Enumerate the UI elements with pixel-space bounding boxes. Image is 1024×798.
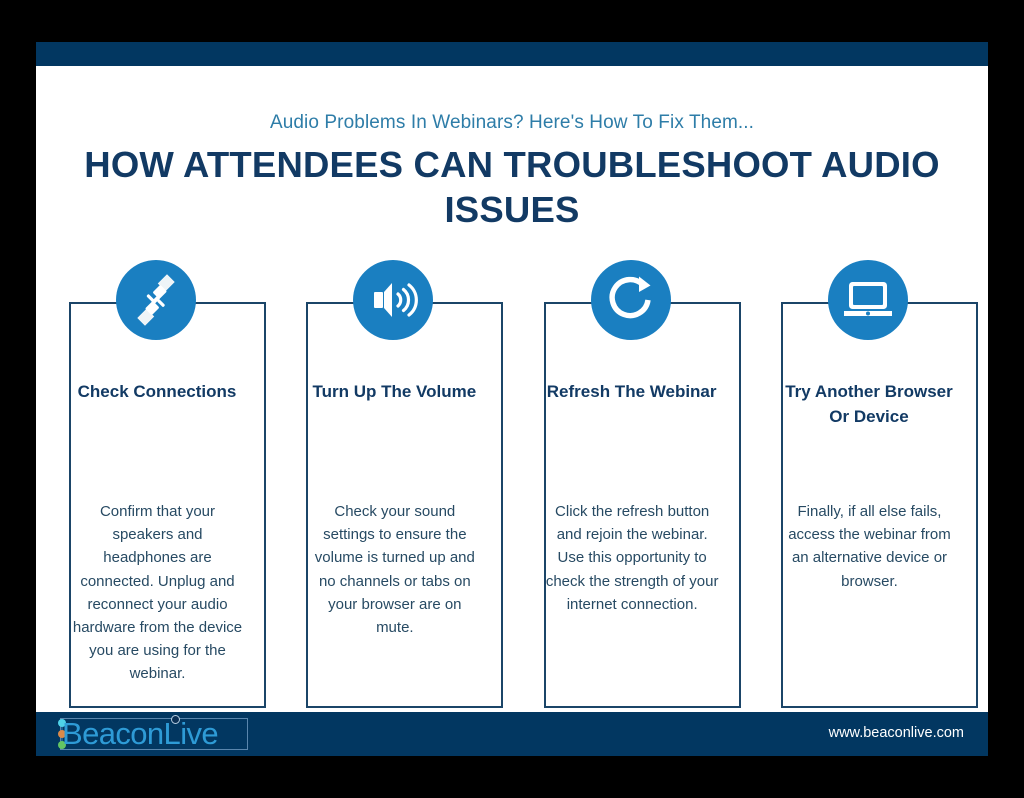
- site-url-label: www.beaconlive.com: [829, 725, 964, 741]
- top-navy-bar: [36, 42, 988, 66]
- step-body: Click the refresh button and rejoin the …: [546, 500, 719, 616]
- step-body: Check your sound settings to ensure the …: [308, 500, 481, 639]
- step-title: Refresh The Webinar: [546, 380, 718, 405]
- plug-connect-icon: [116, 260, 196, 340]
- slide-body: Audio Problems In Webinars? Here's How T…: [36, 66, 988, 712]
- step-body: Confirm that your speakers and headphone…: [71, 500, 244, 686]
- step-column-check-connections: Check Connections Confirm that your spea…: [57, 260, 255, 708]
- step-body: Finally, if all else fails, access the w…: [783, 500, 956, 593]
- step-title: Turn Up The Volume: [308, 380, 480, 405]
- slide-footer: BeaconLive www.beaconlive.com: [36, 712, 988, 756]
- logo-word-beacon: Beacon: [62, 716, 164, 751]
- step-column-turn-up-volume: Turn Up The Volume Check your sound sett…: [294, 260, 492, 708]
- beaconlive-logo[interactable]: BeaconLive: [40, 714, 250, 754]
- step-title: Check Connections: [71, 380, 243, 405]
- step-title: Try Another Browser Or Device: [783, 380, 955, 429]
- speaker-volume-icon: [353, 260, 433, 340]
- slide-headline: HOW ATTENDEES CAN TROUBLESHOOT AUDIO ISS…: [82, 142, 942, 232]
- step-column-try-another-device: Try Another Browser Or Device Finally, i…: [769, 260, 967, 708]
- refresh-circular-arrow-icon: [591, 260, 671, 340]
- logo-word-live: Live: [164, 716, 218, 751]
- slide-subtitle: Audio Problems In Webinars? Here's How T…: [36, 112, 988, 134]
- slide-frame: Audio Problems In Webinars? Here's How T…: [36, 42, 988, 756]
- logo-wordmark: BeaconLive: [62, 717, 218, 750]
- laptop-icon: [828, 260, 908, 340]
- troubleshooting-steps-row: Check Connections Confirm that your spea…: [57, 260, 967, 708]
- step-column-refresh-webinar: Refresh The Webinar Click the refresh bu…: [532, 260, 730, 708]
